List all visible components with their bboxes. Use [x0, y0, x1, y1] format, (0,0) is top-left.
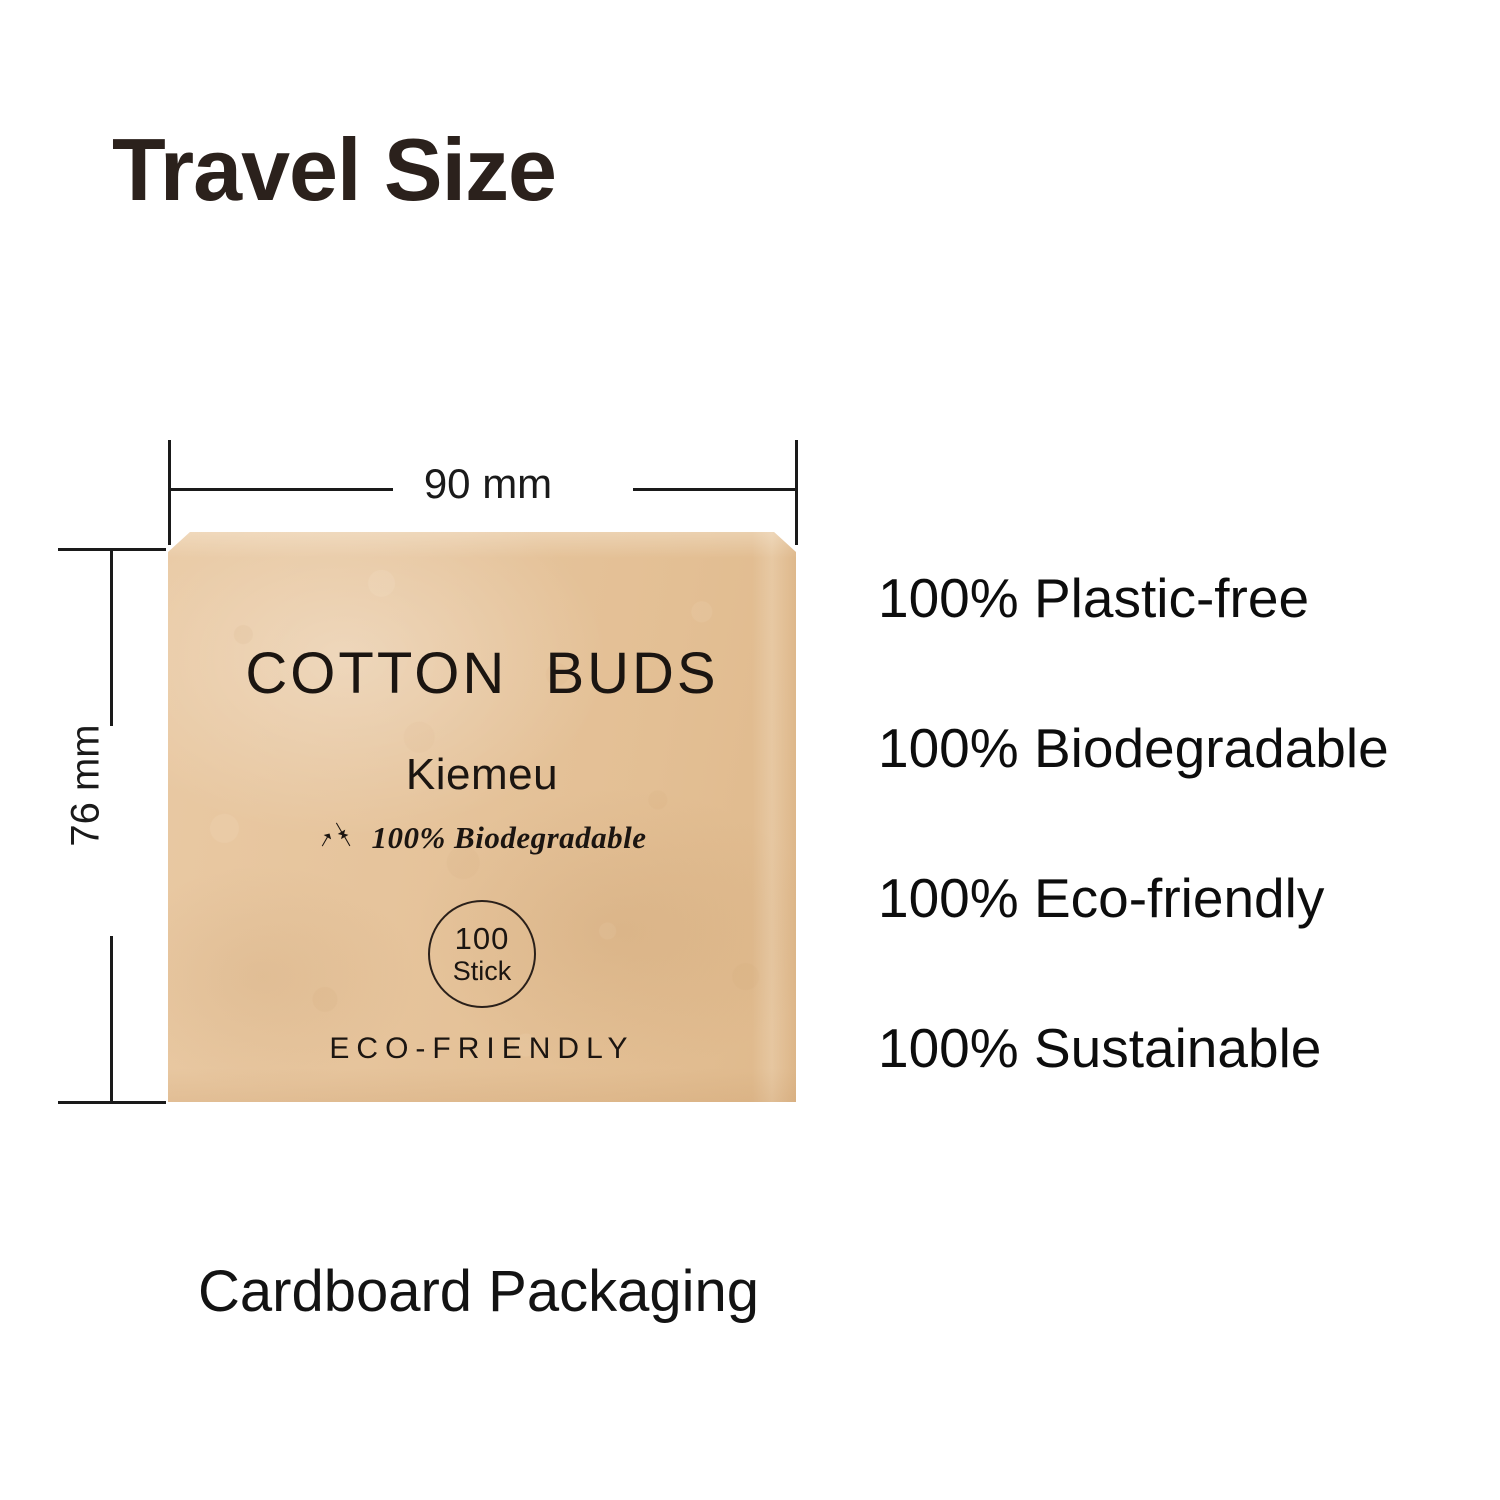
package-count-badge: 100 Stick — [428, 900, 536, 1008]
width-extension-line-right — [795, 440, 798, 545]
package-print-layer: COTTON BUDS Kiemeu 100% Biodegradable 10… — [168, 532, 796, 1102]
width-dimension-line-left — [168, 488, 393, 491]
width-dimension-label: 90 mm — [398, 460, 578, 508]
height-dimension: 76 mm — [58, 548, 168, 1104]
height-dimension-line-top — [110, 548, 113, 726]
package-biodegradable-text: 100% Biodegradable — [371, 820, 646, 856]
package-count-number: 100 — [455, 922, 510, 957]
recycle-icon — [317, 820, 355, 856]
height-dimension-line-bottom — [110, 936, 113, 1104]
infographic-canvas: Travel Size 90 mm 76 mm COTTON BUDS Kiem… — [0, 0, 1500, 1500]
package-brand-name: Kiemeu — [168, 750, 796, 800]
caption-text: Cardboard Packaging — [198, 1258, 759, 1325]
height-dimension-label: 76 mm — [64, 706, 109, 866]
page-title: Travel Size — [112, 126, 556, 214]
width-extension-line-left — [168, 440, 171, 545]
package-count-unit: Stick — [453, 956, 512, 986]
package-tagline: ECO-FRIENDLY — [168, 1032, 796, 1066]
width-dimension-line-right — [633, 488, 798, 491]
package-biodegradable-row: 100% Biodegradable — [168, 820, 796, 856]
package-product-name: COTTON BUDS — [168, 640, 796, 707]
feature-list: 100% Plastic-free 100% Biodegradable 100… — [878, 568, 1458, 1168]
feature-item: 100% Biodegradable — [878, 718, 1458, 868]
feature-item: 100% Sustainable — [878, 1018, 1458, 1168]
feature-item: 100% Plastic-free — [878, 568, 1458, 718]
product-package-box: COTTON BUDS Kiemeu 100% Biodegradable 10… — [168, 532, 796, 1102]
feature-item: 100% Eco-friendly — [878, 868, 1458, 1018]
